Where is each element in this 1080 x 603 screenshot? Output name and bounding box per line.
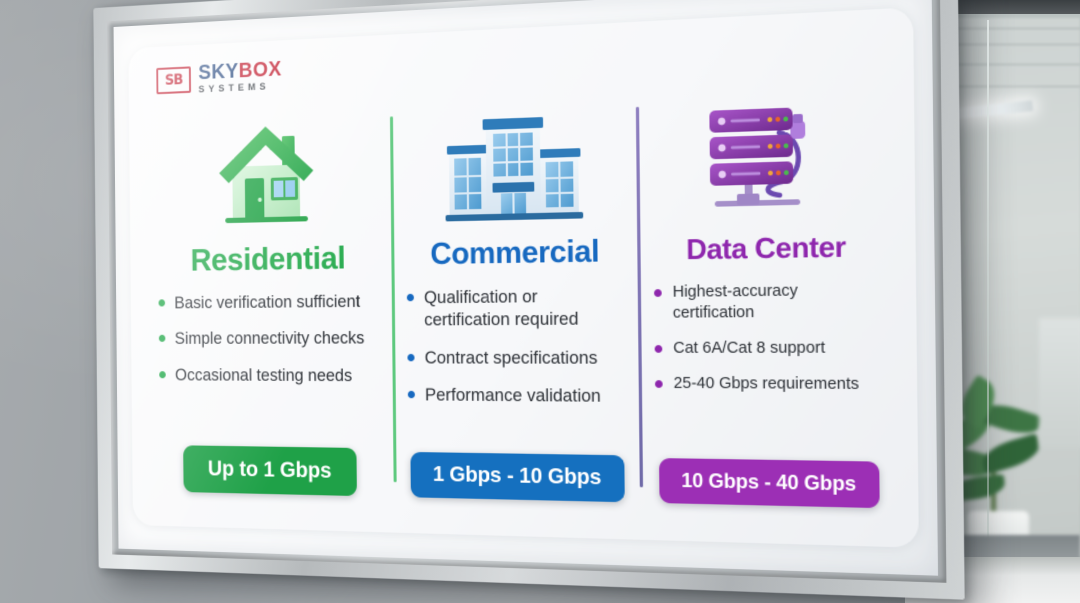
background-object — [1039, 318, 1080, 448]
list-item: Highest-accuracy certification — [654, 280, 881, 324]
list-item-text: Qualification or certification required — [424, 285, 626, 333]
tier-title: Residential — [190, 239, 345, 279]
speed-badge-commercial: 1 Gbps - 10 Gbps — [410, 452, 625, 502]
sign-board: SB SKYBOX SYSTEMS — [114, 0, 939, 576]
tier-bullet-list: Qualification or certification required … — [407, 285, 627, 424]
speed-badge-residential: Up to 1 Gbps — [183, 445, 357, 496]
list-item: Basic verification sufficient — [158, 291, 380, 315]
column-divider-2 — [636, 107, 643, 488]
list-item-text: Highest-accuracy certification — [673, 280, 882, 324]
server-rack-icon — [696, 90, 833, 228]
tier-column-data-center: Data Center Highest-accuracy certificati… — [639, 88, 897, 518]
office-scene: SB SKYBOX SYSTEMS — [0, 0, 1080, 603]
tier-columns: Residential Basic verification sufficien… — [146, 88, 898, 518]
column-divider-1 — [390, 116, 396, 482]
bullet-dot-icon — [655, 380, 663, 388]
office-building-icon — [440, 100, 587, 233]
list-item: Cat 6A/Cat 8 support — [655, 338, 882, 359]
logo-tagline: SYSTEMS — [198, 82, 281, 95]
tier-title: Commercial — [430, 234, 599, 272]
wall-mounted-sign: SB SKYBOX SYSTEMS — [96, 8, 926, 568]
list-item: 25-40 Gbps requirements — [655, 373, 882, 395]
list-item-text: 25-40 Gbps requirements — [673, 373, 859, 395]
logo-wordmark: SKYBOX SYSTEMS — [198, 59, 282, 95]
list-item-text: Basic verification sufficient — [174, 291, 360, 315]
speed-badge-data-center: 10 Gbps - 40 Gbps — [659, 458, 879, 508]
list-item: Qualification or certification required — [407, 285, 626, 333]
tier-bullet-list: Basic verification sufficient Simple con… — [158, 291, 381, 403]
list-item: Occasional testing needs — [159, 365, 381, 388]
bullet-dot-icon — [408, 391, 415, 398]
list-item: Simple connectivity checks — [159, 328, 381, 351]
board-glare — [114, 0, 939, 576]
list-item-text: Cat 6A/Cat 8 support — [673, 338, 825, 359]
logo-mark-icon: SB — [156, 66, 191, 94]
list-item-text: Simple connectivity checks — [175, 328, 365, 351]
tier-column-commercial: Commercial Qualification or certificatio… — [393, 98, 641, 511]
logo-name: SKYBOX — [198, 59, 282, 83]
list-item: Contract specifications — [407, 347, 626, 370]
bullet-dot-icon — [655, 345, 663, 353]
bullet-dot-icon — [407, 294, 414, 301]
logo-name-part2: BOX — [239, 58, 282, 83]
bullet-dot-icon — [407, 354, 414, 361]
list-item: Performance validation — [408, 385, 627, 409]
tier-title: Data Center — [686, 230, 846, 267]
bullet-dot-icon — [654, 289, 662, 297]
infographic-card: SB SKYBOX SYSTEMS — [128, 7, 919, 548]
bullet-dot-icon — [159, 335, 166, 342]
list-item-text: Contract specifications — [424, 347, 597, 370]
tier-bullet-list: Highest-accuracy certification Cat 6A/Ca… — [654, 280, 882, 410]
list-item-text: Performance validation — [425, 385, 601, 409]
glass-panel-seam — [987, 20, 989, 565]
list-item-text: Occasional testing needs — [175, 365, 352, 388]
tier-column-residential: Residential Basic verification sufficien… — [146, 108, 395, 505]
